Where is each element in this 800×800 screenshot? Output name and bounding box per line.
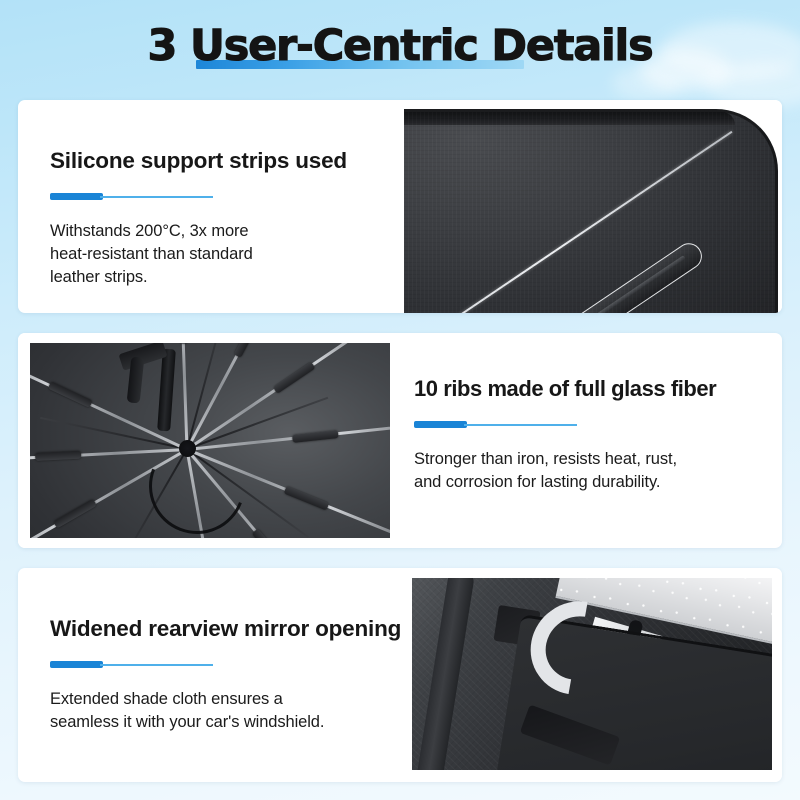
page-title-text: 3 User-Centric Details bbox=[147, 18, 652, 74]
feature-card: Widened rearview mirror opening Extended… bbox=[18, 568, 782, 782]
accent-divider bbox=[50, 193, 213, 200]
divider-segment bbox=[50, 193, 103, 200]
umbrella-interior bbox=[30, 343, 390, 538]
feature-headline: Silicone support strips used bbox=[50, 147, 347, 175]
feature-body: Extended shade cloth ensures a seamless … bbox=[50, 688, 324, 734]
glass-fiber-rib bbox=[174, 343, 189, 450]
divider-line bbox=[100, 196, 213, 198]
umbrella-ribs-interior-photo bbox=[18, 333, 400, 548]
feature-headline: 10 ribs made of full glass fiber bbox=[414, 375, 716, 403]
accent-divider bbox=[50, 661, 213, 668]
feature-headline: Widened rearview mirror opening bbox=[50, 615, 401, 643]
feature-body: Withstands 200°C, 3x more heat-resistant… bbox=[50, 220, 253, 289]
feature-card: 10 ribs made of full glass fiber Stronge… bbox=[18, 333, 782, 548]
sunshade-mirror-opening bbox=[412, 578, 772, 770]
sunshade-corner-silicone-strip-photo bbox=[400, 100, 782, 313]
feature-card: Silicone support strips used Withstands … bbox=[18, 100, 782, 313]
divider-segment bbox=[50, 661, 103, 668]
page-title: 3 User-Centric Details bbox=[0, 18, 800, 84]
feature-text-pane: Silicone support strips used Withstands … bbox=[18, 100, 400, 313]
umbrella-shaft bbox=[157, 348, 176, 431]
feature-body: Stronger than iron, resists heat, rust, … bbox=[414, 448, 677, 494]
sunshade-top-hem bbox=[404, 112, 735, 125]
feature-text-pane: 10 ribs made of full glass fiber Stronge… bbox=[400, 333, 782, 548]
silicone-support-strip bbox=[553, 238, 707, 313]
infographic-page: 3 User-Centric Details Silicone support … bbox=[0, 0, 800, 800]
accent-divider bbox=[414, 421, 577, 428]
divider-line bbox=[100, 664, 213, 666]
rearview-mirror-opening-photo bbox=[400, 568, 782, 782]
feature-text-pane: Widened rearview mirror opening Extended… bbox=[18, 568, 400, 782]
glass-fiber-rib bbox=[400, 131, 732, 313]
divider-line bbox=[464, 424, 577, 426]
divider-segment bbox=[414, 421, 467, 428]
sunshade-fabric bbox=[404, 109, 778, 313]
